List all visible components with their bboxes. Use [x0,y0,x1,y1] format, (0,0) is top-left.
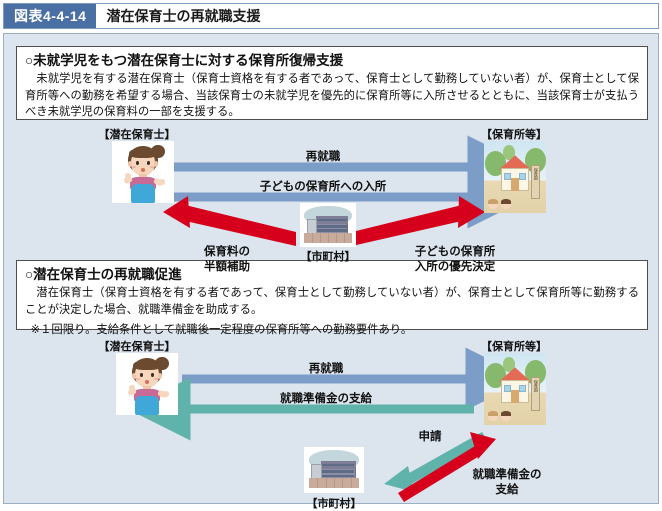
s1-nursery-illustration: 保育園 [484,141,546,213]
child-hair [501,411,511,416]
eye-right [147,161,150,165]
s1-arrow-label-child-admission: 子どもの保育所への入所 [249,180,397,195]
s2-arrow-label-application: 申請 [402,430,458,445]
figure-titlebar: 図表4-4-14 潜在保育士の再就職支援 [3,3,659,29]
child-head [501,412,510,421]
person-illustration [116,353,178,415]
s1-municipality-illustration [300,203,356,247]
child-head [501,200,510,209]
s2-label-worker: 【潜在保育士】 [92,338,182,354]
hand-left [129,385,135,391]
paving-stripe [336,233,337,243]
child-left [488,412,497,422]
paving-stripe [317,478,318,488]
paving-stripe [342,478,343,488]
s2-arrow-label-reemployment: 再就職 [252,362,400,377]
child-hair [488,411,498,416]
child-left [488,200,497,210]
cheek-right [150,166,154,168]
city-hall-illustration [300,203,356,247]
s1-label-worker: 【潜在保育士】 [92,126,182,142]
page-title: 潜在保育士の再就職支援 [96,4,260,28]
paving-stripe [351,478,352,488]
child-head [488,412,497,421]
hand-right [163,391,169,397]
figure-number-tag: 図表4-4-14 [4,4,96,28]
nursery-building-illustration: 保育園 [484,353,546,425]
hand-left [125,173,131,179]
window-row-2 [322,470,354,473]
signboard-text: 保育園 [533,380,538,409]
signboard-text: 保育園 [533,168,538,197]
paving-stripe [320,233,321,243]
paving-stripe [334,478,335,488]
s1-arrow-label-fee-subsidy: 保育料の 半額補助 [184,245,270,275]
child-hair [501,199,511,204]
paving-stripe [326,478,327,488]
s1-label-municipality: 【市町村】 [296,248,360,264]
door [511,390,519,403]
window-row-1 [322,464,354,467]
window-row-2 [317,225,347,228]
window-left [504,173,511,180]
window-row-3 [322,475,354,477]
s2-municipality-illustration [304,447,364,493]
figure-page: 図表4-4-14 潜在保育士の再就職支援 ○未就学児をもつ潜在保育士に対する保育… [0,0,662,507]
window-right [519,385,526,392]
cheek-right [154,378,158,380]
s1-arrow-label-reemployment: 再就職 [249,150,397,165]
apron [131,184,155,203]
s1-arrow-label-priority-decision: 子どもの保育所 入所の優先決定 [399,245,511,275]
nursery-building-illustration: 保育園 [484,141,546,213]
paving-stripe [312,233,313,243]
window-row-3 [317,229,347,231]
hair-fringe [133,360,160,371]
s2-label-nursery: 【保育所等】 [466,338,562,354]
apron [135,396,159,415]
window-row-1 [317,219,347,222]
ear-right [158,373,162,379]
left-wing [307,219,317,234]
hand-right [159,179,165,185]
child-right [501,200,510,210]
arrow-s1-priority-decision [352,196,485,246]
diagram-arrows [4,34,660,505]
left-wing [311,464,322,480]
s2-arrow-label-prep-payment: 就職準備金の支給 [252,392,400,407]
paving-stripe [328,233,329,243]
s2-nursery-illustration: 保育園 [484,353,546,425]
hair-fringe [129,148,156,159]
window-left [504,385,511,392]
paving-stripe [344,233,345,243]
s2-worker-illustration [116,353,178,415]
eye-right [151,373,154,377]
child-hair [488,199,498,204]
s1-label-nursery: 【保育所等】 [466,126,562,142]
ear-right [154,161,158,167]
child-head [488,200,497,209]
door [511,178,519,191]
window-right [519,173,526,180]
child-right [501,412,510,422]
figure-canvas: ○未就学児をもつ潜在保育士に対する保育所復帰支援 未就学児を有する潜在保育士（保… [3,33,659,504]
s2-label-municipality: 【市町村】 [302,495,366,511]
city-hall-illustration [304,447,364,493]
s1-worker-illustration [112,141,174,203]
s2-arrow-label-prep-grant: 就職準備金の 支給 [452,468,562,498]
person-illustration [112,141,174,203]
arrow-s1-fee-subsidy [163,196,296,246]
